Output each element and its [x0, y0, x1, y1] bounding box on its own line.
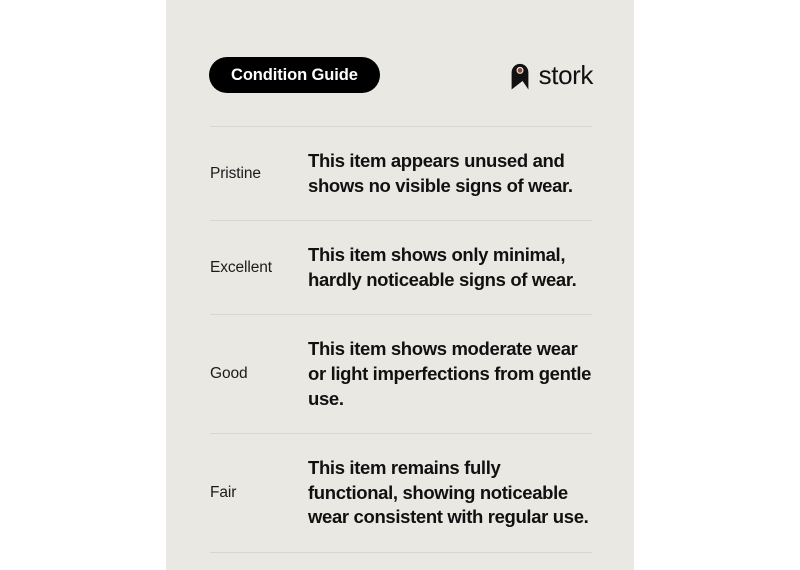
condition-label: Good — [210, 364, 308, 384]
condition-description: This item shows moderate wear or light i… — [308, 337, 592, 411]
screenshot-stage: Condition Guide stork Pristine This item… — [0, 0, 800, 570]
condition-description: This item appears unused and shows no vi… — [308, 149, 592, 198]
condition-guide-card: Condition Guide stork Pristine This item… — [166, 0, 634, 570]
brand-logo: stork — [508, 60, 593, 90]
brand-name: stork — [539, 62, 593, 88]
condition-label: Fair — [210, 483, 308, 503]
condition-description: This item shows only minimal, hardly not… — [308, 243, 592, 292]
stork-arch-icon — [508, 60, 532, 90]
table-divider-bottom — [210, 552, 592, 553]
table-row: Pristine This item appears unused and sh… — [210, 127, 592, 220]
card-header: Condition Guide stork — [209, 55, 593, 95]
condition-guide-table: Pristine This item appears unused and sh… — [210, 126, 592, 553]
condition-description: This item remains fully functional, show… — [308, 456, 592, 530]
condition-label: Excellent — [210, 258, 308, 278]
table-row: Excellent This item shows only minimal, … — [210, 221, 592, 314]
table-row: Good This item shows moderate wear or li… — [210, 315, 592, 433]
table-row: Fair This item remains fully functional,… — [210, 434, 592, 552]
condition-label: Pristine — [210, 164, 308, 184]
condition-guide-badge: Condition Guide — [209, 57, 380, 93]
